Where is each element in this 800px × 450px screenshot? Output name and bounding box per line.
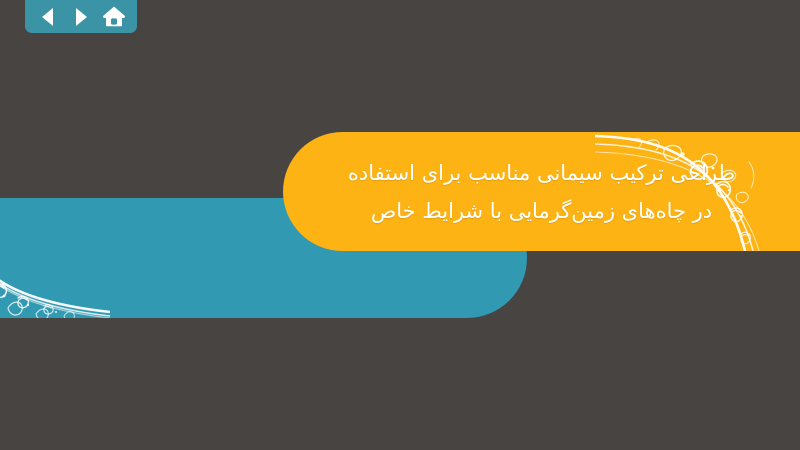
home-button[interactable] xyxy=(100,4,128,30)
orange-title-band xyxy=(283,132,800,251)
triangle-right-icon xyxy=(71,6,91,28)
previous-slide-button[interactable] xyxy=(34,4,62,30)
navigation-bar xyxy=(25,0,137,33)
home-icon xyxy=(102,5,126,28)
orange-arabesque-ornament-icon xyxy=(595,132,760,251)
teal-arabesque-ornament-icon xyxy=(0,208,110,318)
slide-canvas: طراحی ترکیب سیمانی مناسب برای استفاده در… xyxy=(0,0,800,450)
next-slide-button[interactable] xyxy=(67,4,95,30)
triangle-left-icon xyxy=(38,6,58,28)
